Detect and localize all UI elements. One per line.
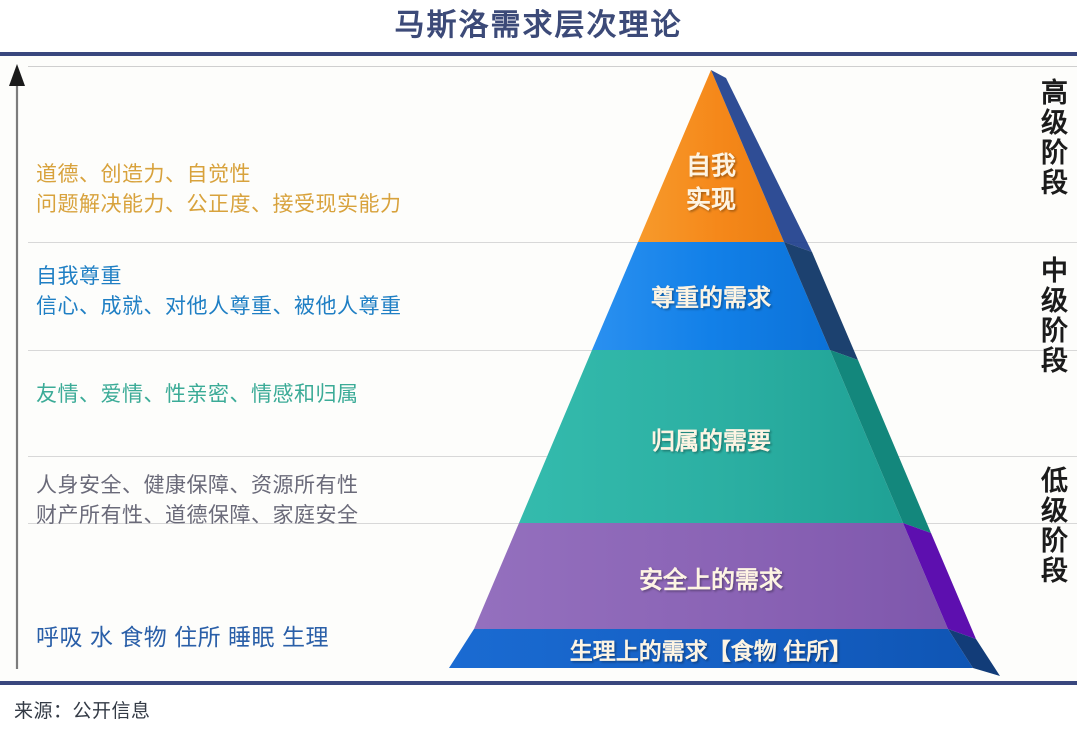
stage-label-intermediate: 中级阶段 (1019, 256, 1065, 376)
pyramid-label-self-actualization-line1: 自我 (686, 152, 736, 180)
level-description-physiological: 呼吸 水 食物 住所 睡眠 生理 (36, 621, 506, 654)
pyramid-label-physiological: 生理上的需求【食物 住所】 (570, 638, 852, 664)
maslow-pyramid-graphic: 自我 实现 尊重的需求 归属的需要 安全上的需求 生理上的需求【食物 住所】 (0, 56, 1077, 681)
pyramid-label-safety: 安全上的需求 (639, 566, 783, 594)
level-description-self-actualization: 道德、创造力、自觉性 问题解决能力、公正度、接受现实能力 (36, 160, 506, 221)
level-description-belonging: 友情、爱情、性亲密、情感和归属 (36, 380, 506, 410)
level-description-esteem: 自我尊重 信心、成就、对他人尊重、被他人尊重 (36, 262, 506, 323)
title-bar: 马斯洛需求层次理论 (0, 0, 1077, 52)
level-description-safety: 人身安全、健康保障、资源所有性 财产所有性、道德保障、家庭安全 (36, 471, 506, 532)
pyramid-chart-area: 自我 实现 尊重的需求 归属的需要 安全上的需求 生理上的需求【食物 住所】 道… (0, 56, 1077, 681)
stage-label-advanced: 高级阶段 (1019, 78, 1065, 198)
page-title: 马斯洛需求层次理论 (395, 11, 683, 41)
pyramid-label-belonging: 归属的需要 (651, 427, 771, 455)
pyramid-label-self-actualization-line2: 实现 (686, 185, 736, 214)
stage-label-basic: 低级阶段 (1019, 466, 1065, 586)
source-text: 来源：公开信息 (14, 696, 151, 723)
pyramid-label-esteem: 尊重的需求 (651, 284, 771, 312)
footer-bar: 来源：公开信息 (0, 685, 1077, 733)
